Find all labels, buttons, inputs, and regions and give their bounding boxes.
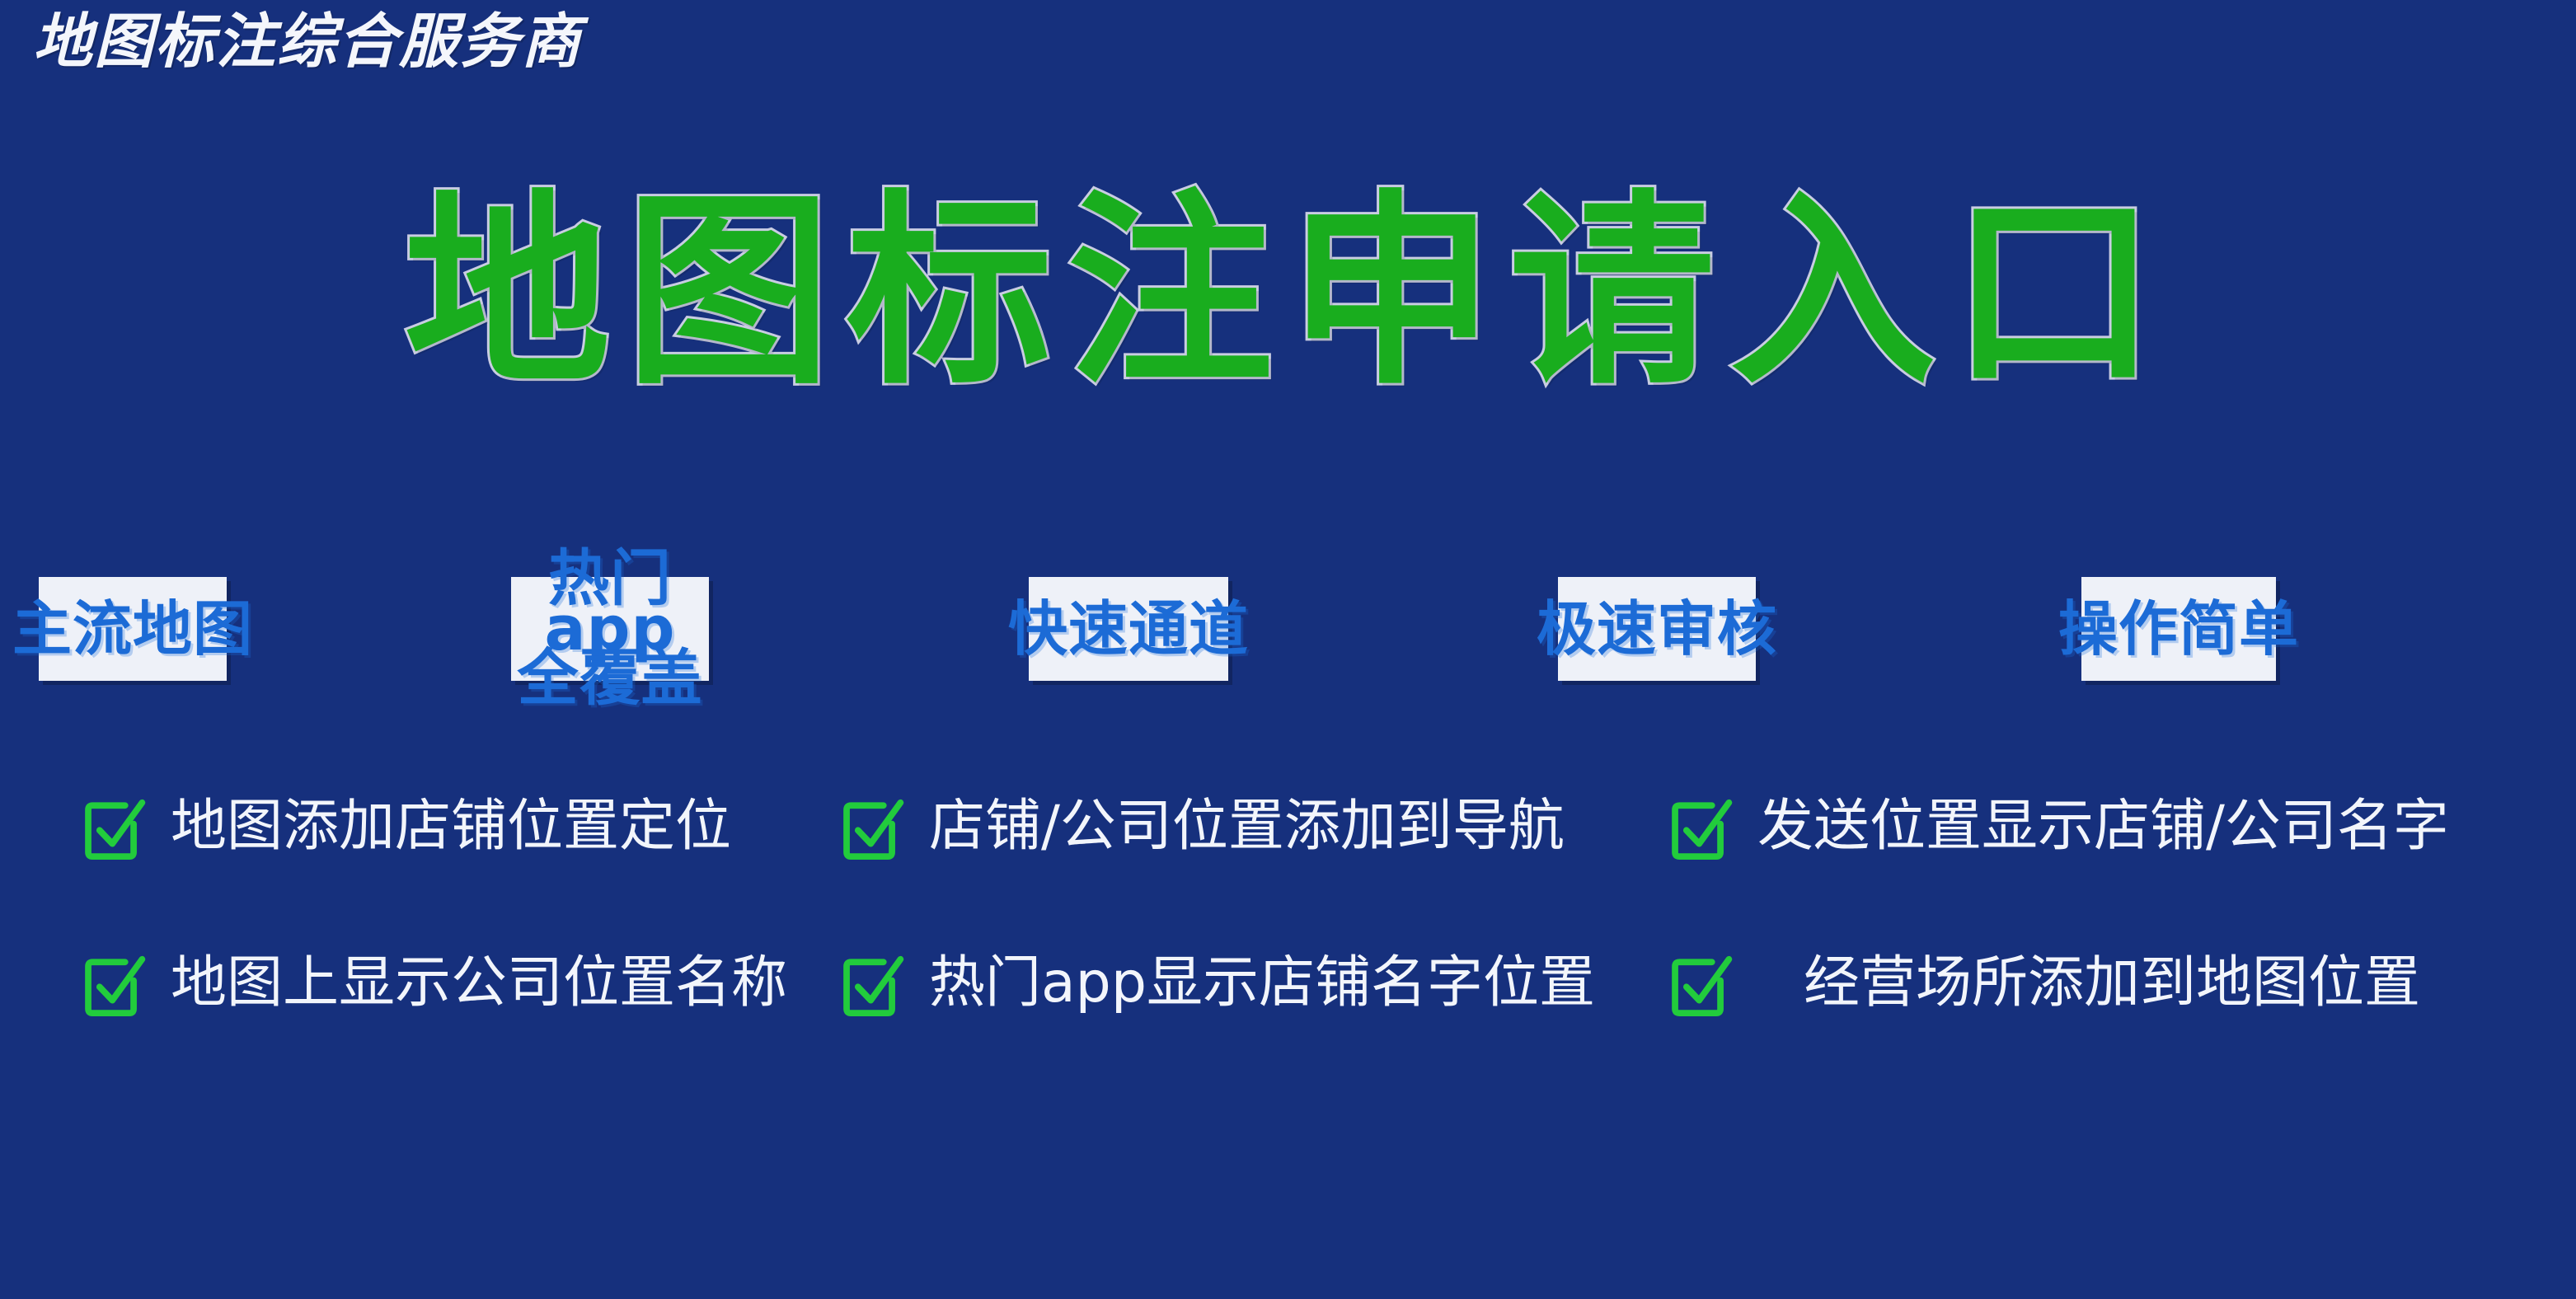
badge-label: 主流地图 (12, 601, 253, 657)
list-item-label: 店铺/公司位置添加到导航 (929, 799, 1565, 855)
headline-container: 地图标注申请入口 (0, 181, 2576, 404)
checklist-row: 地图上显示公司位置名称 热门app显示店铺名字位置 经营场所添加到地图位置 (0, 948, 2576, 1104)
badge-label: 极速审核 (1537, 601, 1777, 657)
poster-root: 地图标注综合服务商 地图标注申请入口 主流地图 热门app全覆盖 快速通道 极速… (0, 0, 2576, 1299)
list-item[interactable]: 地图上显示公司位置名称 (0, 948, 824, 1019)
page-title: 地图标注申请入口 (405, 181, 2172, 404)
list-item-label: 经营场所添加到地图位置 (1757, 955, 2420, 1011)
list-item[interactable]: 经营场所添加到地图位置 (1649, 948, 2576, 1019)
list-item[interactable]: 店铺/公司位置添加到导航 (824, 791, 1649, 862)
checkbox-checked-icon (78, 791, 149, 862)
list-item[interactable]: 热门app显示店铺名字位置 (824, 948, 1649, 1019)
checkbox-checked-icon (78, 948, 149, 1019)
checkbox-checked-icon (837, 791, 908, 862)
list-item-label: 热门app显示店铺名字位置 (929, 955, 1595, 1011)
list-item[interactable]: 发送位置显示店铺/公司名字 (1649, 791, 2576, 862)
badge-label-line2: 全覆盖 (518, 643, 703, 714)
badge-label: 热门app全覆盖 (511, 554, 709, 704)
feature-badge-row: 主流地图 热门app全覆盖 快速通道 极速审核 操作简单 (0, 577, 2576, 692)
badge-simple-operation[interactable]: 操作简单 (2081, 577, 2276, 681)
badge-label: 操作简单 (2058, 601, 2299, 657)
badge-fast-review[interactable]: 极速审核 (1558, 577, 1756, 681)
list-item-label: 发送位置显示店铺/公司名字 (1757, 799, 2449, 855)
badge-fast-channel[interactable]: 快速通道 (1029, 577, 1228, 681)
feature-checklist: 地图添加店铺位置定位 店铺/公司位置添加到导航 发送位置显示店铺/公司名字 (0, 791, 2576, 1104)
badge-app-coverage[interactable]: 热门app全覆盖 (511, 577, 709, 681)
badge-main-maps[interactable]: 主流地图 (39, 577, 227, 681)
brand-title: 地图标注综合服务商 (33, 12, 582, 71)
checkbox-checked-icon (1665, 948, 1736, 1019)
checkbox-checked-icon (1665, 791, 1736, 862)
badge-label: 快速通道 (1008, 601, 1249, 657)
checklist-row: 地图添加店铺位置定位 店铺/公司位置添加到导航 发送位置显示店铺/公司名字 (0, 791, 2576, 948)
checkbox-checked-icon (837, 948, 908, 1019)
list-item-label: 地图上显示公司位置名称 (171, 955, 787, 1011)
list-item[interactable]: 地图添加店铺位置定位 (0, 791, 824, 862)
list-item-label: 地图添加店铺位置定位 (171, 799, 731, 855)
